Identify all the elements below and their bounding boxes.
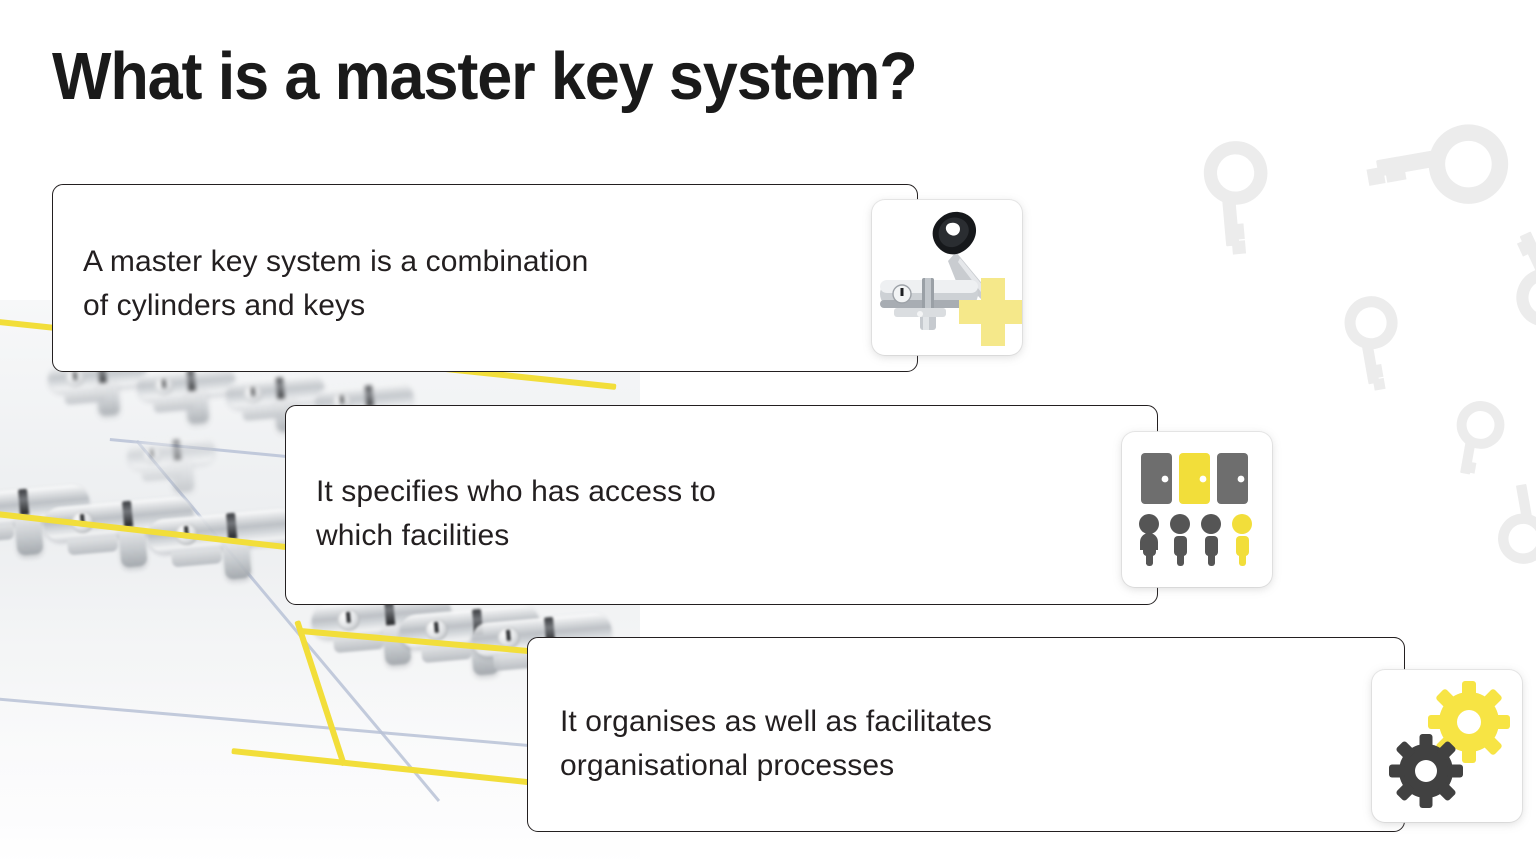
dark-gray-gear: [1389, 734, 1463, 808]
card-cylinders-and-keys-text: A master key system is a combination of …: [83, 240, 783, 328]
key-icon: [1480, 220, 1536, 330]
gears-icon-art: [1372, 670, 1522, 822]
key-icon: [1178, 140, 1298, 260]
key-icon: [1472, 470, 1536, 565]
slide-canvas: What is a master key system? A master ke…: [0, 0, 1536, 864]
key-icon: [1325, 295, 1425, 395]
yellow-person: [1232, 514, 1252, 566]
page-title: What is a master key system?: [52, 38, 917, 115]
cylinder-key-plus-icon-art: [872, 200, 1022, 355]
cylinder-key-plus-icon: [872, 200, 1022, 355]
doors-and-people-icon-art: [1122, 432, 1272, 587]
gray-person: [1170, 514, 1190, 566]
gray-person: [1201, 514, 1221, 566]
gray-person: [1139, 514, 1159, 566]
card-organisational-processes-text: It organises as well as facilitates orga…: [560, 700, 1260, 788]
gears-icon: [1372, 670, 1522, 822]
card-access-rights-text: It specifies who has access to which fac…: [316, 470, 1016, 558]
doors-and-people-icon: [1122, 432, 1272, 587]
